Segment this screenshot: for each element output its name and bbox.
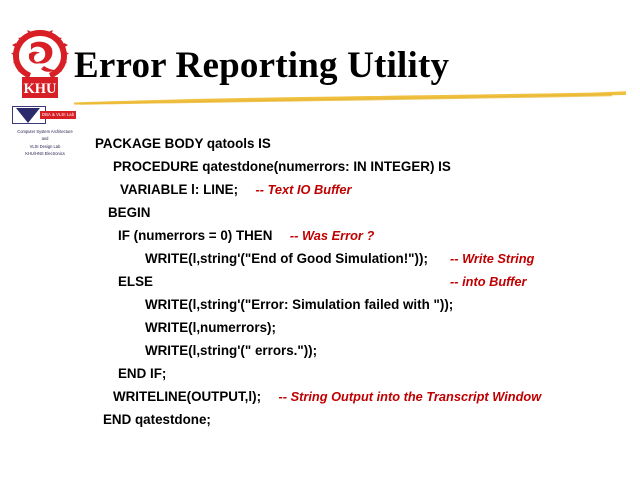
code-comment: -- String Output into the Transcript Win… bbox=[279, 385, 542, 408]
code-block: PACKAGE BODY qatools IS PROCEDURE qatest… bbox=[95, 132, 635, 431]
lab-mark: DBA & VLSI Lab bbox=[8, 105, 80, 127]
code-text: BEGIN bbox=[108, 201, 150, 224]
code-line: END IF; bbox=[95, 362, 635, 385]
code-line: WRITE(l,string'("End of Good Simulation!… bbox=[95, 247, 635, 270]
code-text: PROCEDURE qatestdone(numerrors: IN INTEG… bbox=[113, 155, 451, 178]
code-comment: -- Text IO Buffer bbox=[256, 178, 352, 201]
code-text: WRITE(l,string'(" errors.")); bbox=[145, 339, 317, 362]
code-line: BEGIN bbox=[95, 201, 635, 224]
khu-plate-label: KHU bbox=[23, 81, 57, 97]
lab-caption-line-2: and bbox=[8, 136, 82, 141]
code-line: WRITE(l,string'(" errors.")); bbox=[95, 339, 635, 362]
code-text: END qatestdone; bbox=[103, 408, 211, 431]
code-line: WRITELINE(OUTPUT,l); -- String Output in… bbox=[95, 385, 635, 408]
khu-university-logo: KHU bbox=[11, 26, 69, 99]
code-line: ELSE -- into Buffer bbox=[95, 270, 635, 293]
code-text: ELSE bbox=[118, 270, 153, 293]
code-line: END qatestdone; bbox=[95, 408, 635, 431]
code-line: PROCEDURE qatestdone(numerrors: IN INTEG… bbox=[95, 155, 635, 178]
lab-caption-line-3: VLSI Design Lab bbox=[8, 144, 82, 149]
page-title: Error Reporting Utility bbox=[74, 44, 634, 88]
code-text: WRITELINE(OUTPUT,l); bbox=[113, 385, 261, 408]
code-line: WRITE(l,string'("Error: Simulation faile… bbox=[95, 293, 635, 316]
code-text: VARIABLE l: LINE; bbox=[120, 178, 238, 201]
code-line: VARIABLE l: LINE; -- Text IO Buffer bbox=[95, 178, 635, 201]
code-text: WRITE(l,numerrors); bbox=[145, 316, 276, 339]
khu-emblem-icon: KHU bbox=[11, 26, 69, 99]
code-comment: -- into Buffer bbox=[450, 270, 527, 293]
code-text: WRITE(l,string'("Error: Simulation faile… bbox=[145, 293, 453, 316]
lab-v-shape bbox=[16, 108, 40, 123]
title-underline-brushstroke bbox=[72, 90, 628, 106]
code-text: IF (numerrors = 0) THEN bbox=[118, 224, 272, 247]
title-block: Error Reporting Utility bbox=[74, 44, 634, 88]
code-text: END IF; bbox=[118, 362, 166, 385]
code-line: WRITE(l,numerrors); bbox=[95, 316, 635, 339]
code-text: PACKAGE BODY qatools IS bbox=[95, 132, 271, 155]
code-line: PACKAGE BODY qatools IS bbox=[95, 132, 635, 155]
code-text: WRITE(l,string'("End of Good Simulation!… bbox=[145, 247, 428, 270]
code-comment: -- Write String bbox=[450, 247, 534, 270]
lab-caption-line-1: Computer System Architecture bbox=[8, 129, 82, 134]
lab-tag-label: DBA & VLSI Lab bbox=[40, 111, 76, 119]
lab-logo: DBA & VLSI Lab Computer System Architect… bbox=[8, 105, 82, 157]
code-line: IF (numerrors = 0) THEN -- Was Error ? bbox=[95, 224, 635, 247]
lab-caption-line-4: KHU/HNS Electronics bbox=[8, 151, 82, 156]
code-comment: -- Was Error ? bbox=[290, 224, 374, 247]
